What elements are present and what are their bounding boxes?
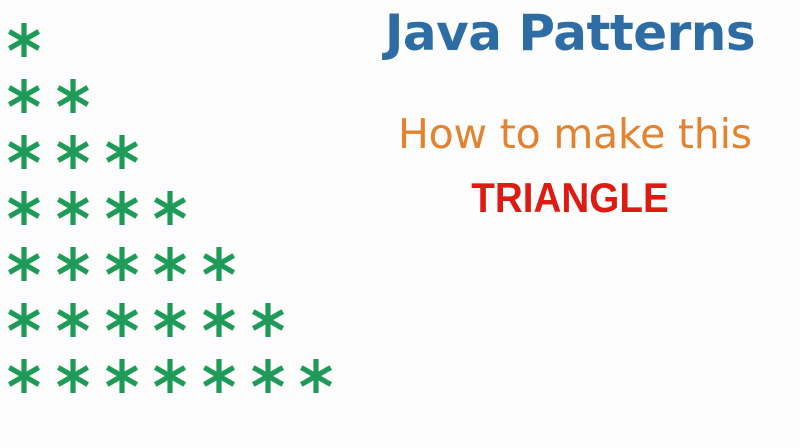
pattern-row [0, 292, 292, 348]
asterisk-icon [0, 68, 49, 124]
asterisk-icon [49, 236, 98, 292]
asterisk-icon [0, 236, 49, 292]
pattern-row [0, 12, 49, 68]
asterisk-icon [0, 12, 49, 68]
asterisk-icon [97, 292, 146, 348]
asterisk-icon [49, 180, 98, 236]
asterisk-icon [146, 180, 195, 236]
asterisk-icon [49, 68, 98, 124]
pattern-row [0, 180, 195, 236]
pattern-row [0, 348, 341, 404]
asterisk-icon [146, 348, 195, 404]
asterisk-icon [146, 292, 195, 348]
asterisk-icon [0, 180, 49, 236]
asterisk-icon [49, 124, 98, 180]
asterisk-icon [97, 348, 146, 404]
asterisk-icon [49, 292, 98, 348]
asterisk-icon [0, 124, 49, 180]
asterisk-icon [97, 124, 146, 180]
pattern-row [0, 236, 243, 292]
asterisk-icon [243, 292, 292, 348]
asterisk-icon [243, 348, 292, 404]
asterisk-icon [49, 348, 98, 404]
asterisk-icon [0, 348, 49, 404]
asterisk-icon [97, 180, 146, 236]
pattern-row [0, 68, 97, 124]
asterisk-icon [195, 348, 244, 404]
text-block: Java Patterns How to make this TRIANGLE [350, 0, 800, 448]
screenshot-canvas: Java Patterns How to make this TRIANGLE [0, 0, 800, 448]
asterisk-icon [0, 292, 49, 348]
subtitle-text: How to make this [350, 112, 800, 157]
asterisk-icon [97, 236, 146, 292]
asterisk-icon [146, 236, 195, 292]
asterisk-icon [195, 292, 244, 348]
page-title: Java Patterns [350, 6, 790, 60]
pattern-row [0, 124, 146, 180]
asterisk-icon [292, 348, 341, 404]
asterisk-icon [195, 236, 244, 292]
asterisk-triangle-pattern [0, 0, 360, 448]
shape-word-text: TRIANGLE [368, 175, 773, 221]
